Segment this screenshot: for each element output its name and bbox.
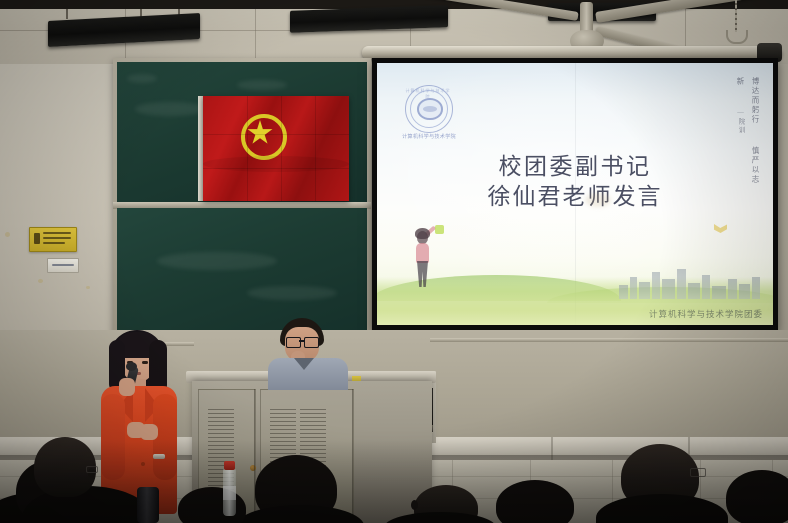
wristwatch: [153, 454, 165, 459]
podium-knob[interactable]: [250, 465, 256, 471]
eyeglasses-left-lens: [286, 337, 301, 348]
speaker-hand-right: [140, 424, 158, 440]
room-plate-sign: [47, 258, 79, 273]
seated-man: [258, 318, 354, 388]
child-hair: [415, 228, 430, 239]
eyeglasses-bridge: [299, 340, 304, 342]
screen-hook: [726, 30, 748, 44]
screen-chain: [735, 0, 737, 32]
bottle-cap[interactable]: [224, 461, 235, 470]
slide-footer-text: 计算机科学与技术学院团委: [649, 308, 763, 320]
thermos-flask[interactable]: [137, 487, 159, 523]
city-skyline-illustration: [617, 263, 769, 299]
slide-title-line-1: 校团委副书记: [377, 151, 773, 181]
speaker-hand-upper: [119, 378, 135, 396]
motto-line-1: 博达而躬行: [751, 77, 760, 125]
projection-screen: 计算机科学与技术学院 计算机科学与技术学院 博达而躬行 慎严以志新 —院训 校团…: [372, 58, 778, 330]
slide-title: 校团委副书记 徐仙君老师发言: [377, 151, 773, 211]
audience-head: [726, 470, 788, 523]
audience-head: [496, 480, 574, 523]
eyeglasses-right-lens: [304, 337, 319, 348]
child-legs: [417, 261, 428, 287]
slide-title-line-2: 徐仙君老师发言: [377, 181, 773, 211]
wall-rail: [430, 338, 788, 342]
motto-signature: —院训: [737, 109, 744, 135]
college-logo: 计算机科学与技术学院 计算机科学与技术学院: [397, 85, 461, 147]
child-illustration: [409, 225, 443, 293]
classroom-photo: 计算机科学与技术学院 计算机科学与技术学院 博达而躬行 慎严以志新 —院训 校团…: [0, 0, 788, 523]
child-body: [416, 243, 429, 263]
speaker-arm-left: [101, 394, 125, 480]
screen-smudge: [585, 193, 611, 207]
logo-caption: 计算机科学与技术学院: [397, 133, 461, 140]
logo-core-mark: [417, 98, 443, 120]
child-held-object: [435, 225, 444, 234]
bottle-label: [223, 486, 236, 500]
presentation-slide: 计算机科学与技术学院 计算机科学与技术学院 博达而躬行 慎严以志新 —院训 校团…: [377, 63, 773, 325]
light-hanger: [66, 9, 68, 19]
warning-sign: [29, 227, 77, 252]
communist-youth-league-flag: [203, 96, 349, 201]
fan-blade: [595, 0, 775, 23]
microphone-head: [126, 362, 137, 371]
